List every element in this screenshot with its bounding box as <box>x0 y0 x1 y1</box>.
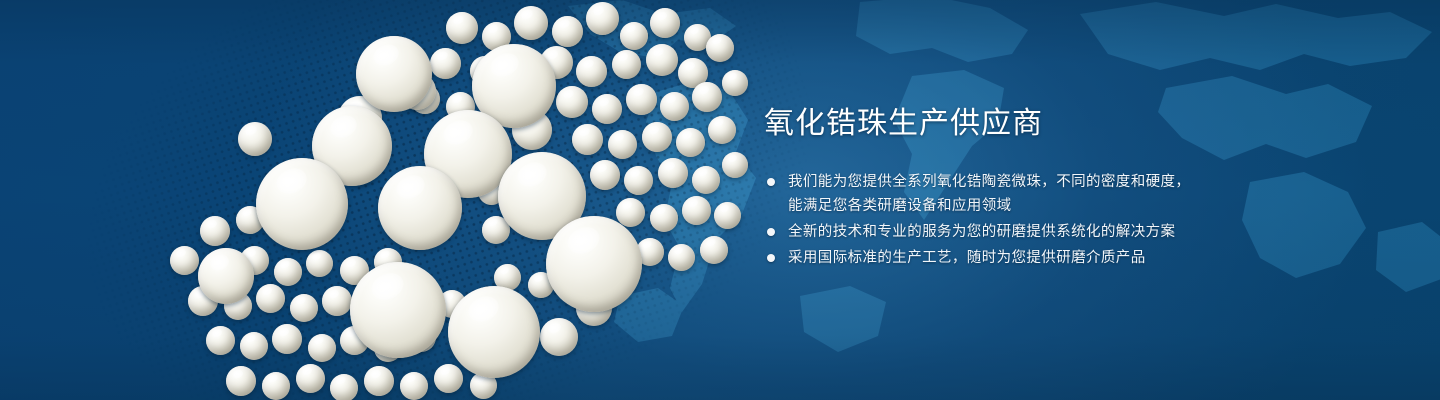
list-item: 全新的技术和专业的服务为您的研磨提供系统化的解决方案 <box>764 220 1234 244</box>
feature-list: 我们能为您提供全系列氧化锆陶瓷微珠，不同的密度和硬度， 能满足您各类研磨设备和应… <box>764 170 1234 270</box>
list-item-line1: 我们能为您提供全系列氧化锆陶瓷微珠，不同的密度和硬度， <box>788 174 1190 190</box>
list-item-line1: 采用国际标准的生产工艺，随时为您提供研磨介质产品 <box>788 250 1146 266</box>
list-item: 我们能为您提供全系列氧化锆陶瓷微珠，不同的密度和硬度， 能满足您各类研磨设备和应… <box>764 170 1234 218</box>
page-title: 氧化锆珠生产供应商 <box>764 104 1234 144</box>
list-item-line2: 能满足您各类研磨设备和应用领域 <box>788 194 1234 218</box>
list-item: 采用国际标准的生产工艺，随时为您提供研磨介质产品 <box>764 246 1234 270</box>
list-item-line1: 全新的技术和专业的服务为您的研磨提供系统化的解决方案 <box>788 224 1175 240</box>
hero-banner: 氧化锆珠生产供应商 我们能为您提供全系列氧化锆陶瓷微珠，不同的密度和硬度， 能满… <box>0 0 1440 400</box>
bullet-dot-icon <box>767 254 775 262</box>
banner-copy: 氧化锆珠生产供应商 我们能为您提供全系列氧化锆陶瓷微珠，不同的密度和硬度， 能满… <box>764 104 1234 272</box>
bullet-dot-icon <box>767 228 775 236</box>
bullet-dot-icon <box>767 178 775 186</box>
